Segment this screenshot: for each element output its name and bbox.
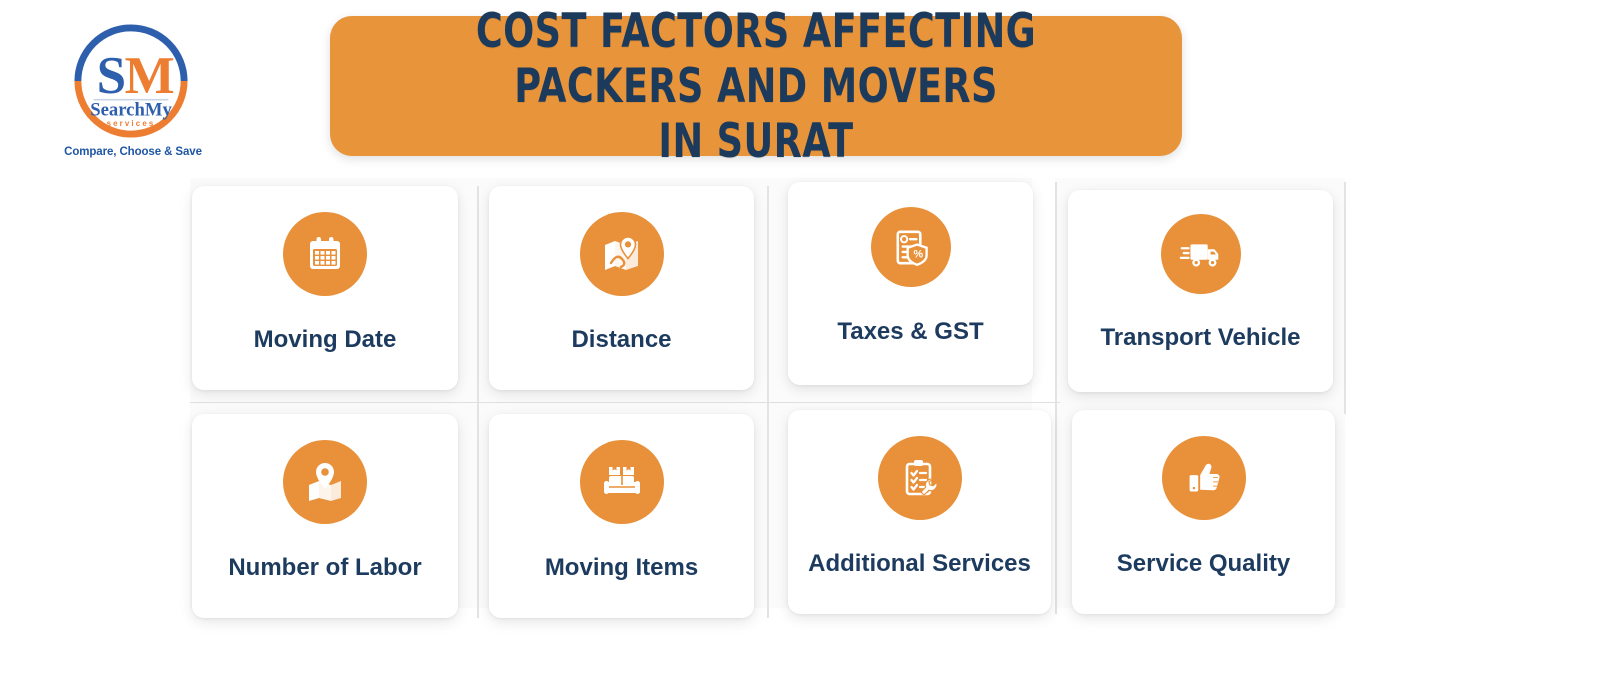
- logo-mark-icon: S M SearchMy services: [72, 22, 190, 140]
- svg-text:M: M: [125, 47, 175, 105]
- factor-label: Transport Vehicle: [1100, 326, 1300, 350]
- calendar-icon: [283, 212, 367, 296]
- factor-card-service-quality[interactable]: Service Quality: [1072, 410, 1335, 614]
- factor-label: Distance: [571, 328, 671, 352]
- factor-card-moving-items[interactable]: Moving Items: [489, 414, 754, 618]
- delivery-truck-icon: [1161, 214, 1241, 294]
- factor-card-number-of-labor[interactable]: Number of Labor: [192, 414, 458, 618]
- grid-divider-vertical-4: [1344, 182, 1346, 414]
- factor-label: Moving Date: [254, 328, 397, 352]
- title-banner: COST FACTORS AFFECTING PACKERS AND MOVER…: [330, 16, 1182, 156]
- folded-map-pin-icon: [283, 440, 367, 524]
- svg-text:services: services: [107, 119, 156, 128]
- svg-text:S: S: [97, 47, 127, 105]
- factor-card-taxes-gst[interactable]: % Taxes & GST: [788, 182, 1033, 385]
- map-pin-icon: [580, 212, 664, 296]
- factor-card-distance[interactable]: Distance: [489, 186, 754, 390]
- sofa-boxes-icon: [580, 440, 664, 524]
- clipboard-wrench-icon: [878, 436, 962, 520]
- grid-divider-horizontal-1: [190, 402, 1060, 403]
- document-percent-shield-icon: %: [871, 207, 951, 287]
- factor-label: Service Quality: [1117, 552, 1290, 576]
- infographic-canvas: S M SearchMy services Compare, Choose & …: [0, 0, 1600, 700]
- factor-card-moving-date[interactable]: Moving Date: [192, 186, 458, 390]
- factor-card-additional-services[interactable]: Additional Services: [788, 410, 1051, 614]
- thumbs-up-icon: [1162, 436, 1246, 520]
- svg-text:SearchMy: SearchMy: [90, 99, 172, 120]
- grid-divider-vertical-3: [1055, 182, 1057, 614]
- factor-card-transport-vehicle[interactable]: Transport Vehicle: [1068, 190, 1333, 392]
- brand-tagline: Compare, Choose & Save: [58, 146, 208, 158]
- factor-label: Additional Services: [808, 552, 1031, 576]
- factor-label: Moving Items: [545, 556, 698, 580]
- page-title: COST FACTORS AFFECTING PACKERS AND MOVER…: [424, 4, 1089, 169]
- factor-label: Number of Labor: [228, 556, 421, 580]
- factor-label: Taxes & GST: [837, 320, 983, 344]
- svg-text:%: %: [914, 248, 924, 260]
- brand-logo[interactable]: S M SearchMy services Compare, Choose & …: [58, 14, 208, 164]
